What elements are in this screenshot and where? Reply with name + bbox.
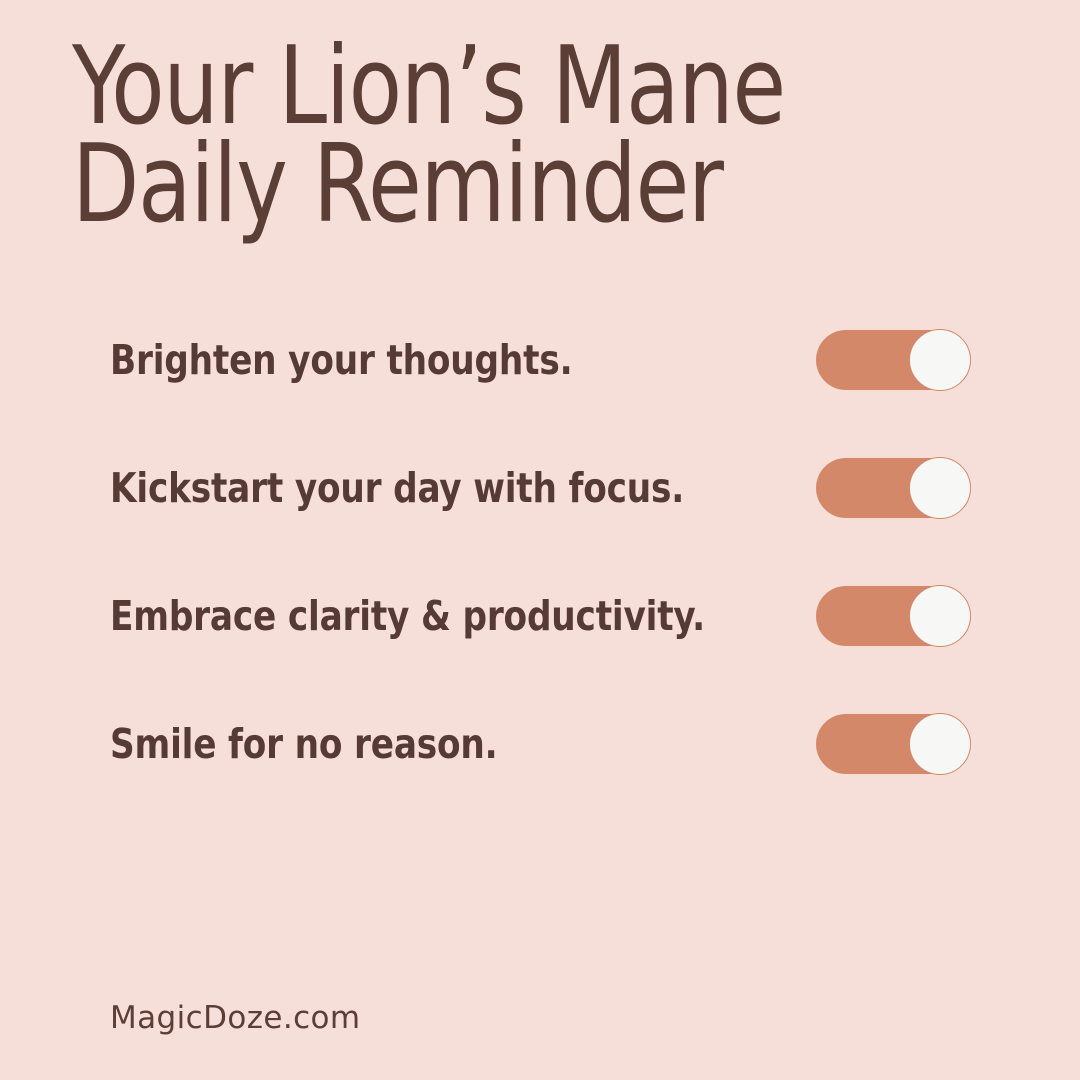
reminder-toggle-2[interactable]: [816, 458, 970, 518]
toggle-knob-icon: [909, 329, 971, 391]
toggle-knob-icon: [909, 713, 971, 775]
reminder-toggle-4[interactable]: [816, 714, 970, 774]
reminder-list: Brighten your thoughts. Kickstart your d…: [0, 296, 1080, 808]
footer: MagicDoze.com: [110, 1000, 361, 1036]
reminder-label: Smile for no reason.: [110, 720, 498, 768]
page-title: Your Lion’s Mane Daily Reminder: [72, 38, 952, 234]
reminder-label: Kickstart your day with focus.: [110, 464, 684, 512]
site-url: MagicDoze.com: [110, 1000, 361, 1036]
toggle-knob-icon: [909, 585, 971, 647]
list-item: Kickstart your day with focus.: [0, 424, 1080, 552]
reminder-toggle-1[interactable]: [816, 330, 970, 390]
reminder-toggle-3[interactable]: [816, 586, 970, 646]
list-item: Embrace clarity & productivity.: [0, 552, 1080, 680]
toggle-knob-icon: [909, 457, 971, 519]
list-item: Smile for no reason.: [0, 680, 1080, 808]
reminder-label: Embrace clarity & productivity.: [110, 592, 705, 640]
page-title-line-2: Daily Reminder: [72, 136, 864, 234]
list-item: Brighten your thoughts.: [0, 296, 1080, 424]
reminder-label: Brighten your thoughts.: [110, 336, 572, 384]
poster-canvas: Your Lion’s Mane Daily Reminder Brighten…: [0, 0, 1080, 1080]
